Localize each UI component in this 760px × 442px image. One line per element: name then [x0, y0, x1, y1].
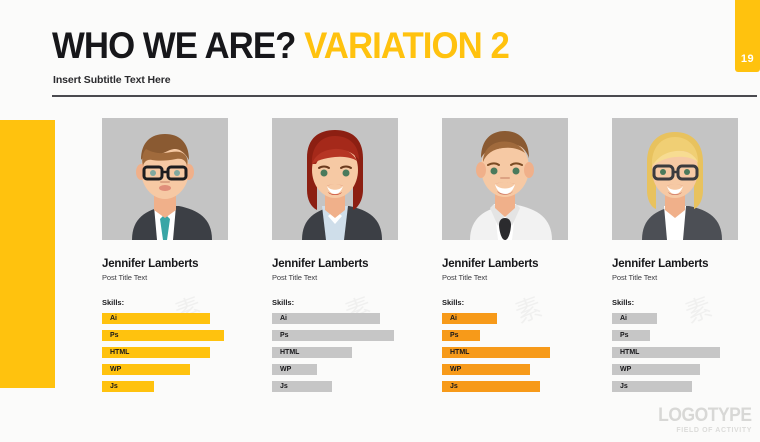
skill-label: HTML: [442, 349, 469, 356]
team-card[interactable]: Jennifer Lamberts Post Title Text Skills…: [102, 118, 228, 398]
skill-label: Ps: [102, 332, 119, 339]
skill-label: HTML: [612, 349, 639, 356]
avatar-woman-blonde-glasses-icon: [612, 118, 738, 240]
person-name: Jennifer Lamberts: [442, 258, 568, 270]
skill-label: Js: [442, 383, 458, 390]
skill-bar-group: Ai Ps HTML WP Js: [442, 313, 568, 392]
team-card[interactable]: Jennifer Lamberts Post Title Text Skills…: [272, 118, 398, 398]
person-name: Jennifer Lamberts: [102, 258, 228, 270]
skill-bar: WP: [272, 364, 317, 375]
skill-label: Ai: [272, 315, 287, 322]
slide-canvas: 19 WHO WE ARE? VARIATION 2 Insert Subtit…: [0, 0, 760, 442]
person-role: Post Title Text: [272, 273, 398, 282]
skill-bar: Js: [102, 381, 154, 392]
skill-bar: HTML: [102, 347, 210, 358]
team-card[interactable]: Jennifer Lamberts Post Title Text Skills…: [612, 118, 738, 398]
skill-bar: Ai: [272, 313, 380, 324]
skill-label: Ps: [612, 332, 629, 339]
skill-label: Ps: [272, 332, 289, 339]
skills-heading: Skills:: [612, 298, 738, 307]
skill-bar: HTML: [442, 347, 550, 358]
skill-bar: Ps: [612, 330, 650, 341]
skill-bar: Ps: [102, 330, 224, 341]
skill-label: WP: [272, 366, 291, 373]
skill-bar: Js: [272, 381, 332, 392]
skill-bar: HTML: [612, 347, 720, 358]
skill-bar: WP: [612, 364, 700, 375]
skill-bar: HTML: [272, 347, 352, 358]
skill-bar: Ai: [102, 313, 210, 324]
skill-label: HTML: [102, 349, 129, 356]
skill-label: Ps: [442, 332, 459, 339]
person-name: Jennifer Lamberts: [272, 258, 398, 270]
avatar: [272, 118, 398, 240]
avatar: [102, 118, 228, 240]
skill-bar: Ai: [442, 313, 497, 324]
skill-bar-group: Ai Ps HTML WP Js: [102, 313, 228, 392]
skills-heading: Skills:: [442, 298, 568, 307]
skill-label: Ai: [102, 315, 117, 322]
skill-bar-group: Ai Ps HTML WP Js: [272, 313, 398, 392]
team-card[interactable]: Jennifer Lamberts Post Title Text Skills…: [442, 118, 568, 398]
skill-bar: Js: [442, 381, 540, 392]
skill-label: Ai: [442, 315, 457, 322]
skill-bar-group: Ai Ps HTML WP Js: [612, 313, 738, 392]
skill-label: Js: [272, 383, 288, 390]
team-card-list: Jennifer Lamberts Post Title Text Skills…: [0, 0, 760, 442]
person-role: Post Title Text: [442, 273, 568, 282]
skill-bar: Ai: [612, 313, 657, 324]
person-role: Post Title Text: [102, 273, 228, 282]
skill-label: Js: [612, 383, 628, 390]
avatar: [442, 118, 568, 240]
skill-label: Js: [102, 383, 118, 390]
skills-heading: Skills:: [102, 298, 228, 307]
skill-bar: Ps: [272, 330, 394, 341]
skill-label: WP: [442, 366, 461, 373]
avatar-man-white-shirt-icon: [442, 118, 568, 240]
skill-bar: Ps: [442, 330, 480, 341]
skill-bar: WP: [442, 364, 530, 375]
skill-label: HTML: [272, 349, 299, 356]
person-name: Jennifer Lamberts: [612, 258, 738, 270]
skill-bar: Js: [612, 381, 692, 392]
skill-bar: WP: [102, 364, 190, 375]
skill-label: Ai: [612, 315, 627, 322]
skill-label: WP: [612, 366, 631, 373]
skill-label: WP: [102, 366, 121, 373]
avatar: [612, 118, 738, 240]
skills-heading: Skills:: [272, 298, 398, 307]
avatar-woman-red-hair-icon: [272, 118, 398, 240]
avatar-man-glasses-suit-icon: [102, 118, 228, 240]
person-role: Post Title Text: [612, 273, 738, 282]
